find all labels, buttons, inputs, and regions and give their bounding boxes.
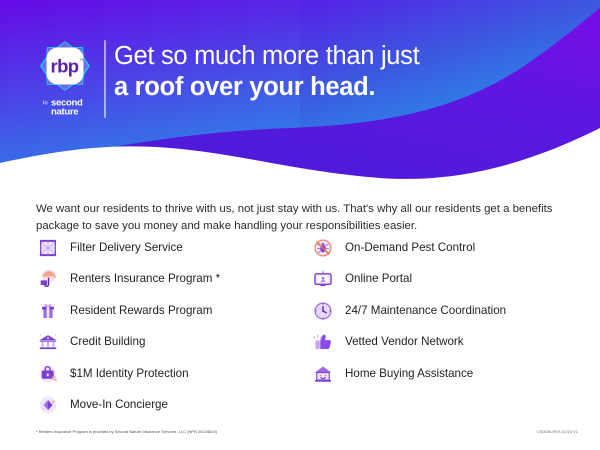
benefit-item: Online Portal [311, 264, 566, 296]
benefit-item: Vetted Vendor Network [311, 327, 566, 359]
benefits-column-right: On-Demand Pest Control Online Portal [311, 232, 566, 421]
benefits-section: Filter Delivery Service Renters Insuranc… [36, 232, 566, 421]
document-code: CS0008-RES-02/24 V1 [537, 429, 578, 434]
benefit-item: Resident Rewards Program [36, 295, 311, 327]
benefit-label: $1M Identity Protection [70, 367, 189, 381]
benefit-item: Renters Insurance Program * [36, 264, 311, 296]
hero-banner: rbp ™ by second nature Get so much more … [0, 0, 600, 185]
air-filter-icon [36, 236, 60, 260]
headline-line-2: a roof over your head. [114, 72, 584, 103]
benefit-item: On-Demand Pest Control [311, 232, 566, 264]
second-nature-byline-icon: by second nature [34, 95, 96, 117]
svg-text:by: by [43, 100, 49, 105]
gift-box-icon [36, 299, 60, 323]
benefit-label: 24/7 Maintenance Coordination [345, 304, 506, 318]
svg-text:rbp: rbp [50, 56, 78, 77]
benefits-column-left: Filter Delivery Service Renters Insuranc… [36, 232, 311, 421]
svg-text:™: ™ [80, 58, 85, 64]
benefit-label: Move-In Concierge [70, 398, 168, 412]
bank-icon [36, 330, 60, 354]
benefit-item: Move-In Concierge [36, 390, 311, 422]
svg-text:nature: nature [51, 107, 78, 118]
benefit-item: Home Buying Assistance [311, 358, 566, 390]
benefit-label: On-Demand Pest Control [345, 241, 475, 255]
benefit-label: Resident Rewards Program [70, 304, 212, 318]
marketing-flyer: rbp ™ by second nature Get so much more … [0, 0, 600, 450]
umbrella-icon [36, 267, 60, 291]
no-pest-icon [311, 236, 335, 260]
clock-icon [311, 299, 335, 323]
benefit-label: Credit Building [70, 335, 145, 349]
rbp-logo-icon: rbp ™ [37, 38, 93, 94]
hero-headline: Get so much more than just a roof over y… [114, 41, 584, 103]
insurance-footnote: * Renters Insurance Program is provided … [36, 429, 217, 434]
benefit-item: Filter Delivery Service [36, 232, 311, 264]
intro-paragraph: We want our residents to thrive with us,… [36, 201, 556, 234]
benefit-label: Vetted Vendor Network [345, 335, 464, 349]
monitor-icon [311, 267, 335, 291]
house-icon [311, 362, 335, 386]
benefit-label: Filter Delivery Service [70, 241, 183, 255]
benefit-item: $1M Identity Protection [36, 358, 311, 390]
brand-logo: rbp ™ by second nature [34, 38, 96, 117]
logo-headline-divider [104, 40, 106, 118]
thumbs-up-icon [311, 330, 335, 354]
benefit-label: Renters Insurance Program * [70, 272, 220, 286]
benefit-item: Credit Building [36, 327, 311, 359]
lock-briefcase-icon [36, 362, 60, 386]
headline-line-1: Get so much more than just [114, 41, 584, 72]
benefit-item: 24/7 Maintenance Coordination [311, 295, 566, 327]
sparkle-diamond-icon [36, 393, 60, 417]
benefit-label: Home Buying Assistance [345, 367, 473, 381]
benefit-label: Online Portal [345, 272, 412, 286]
